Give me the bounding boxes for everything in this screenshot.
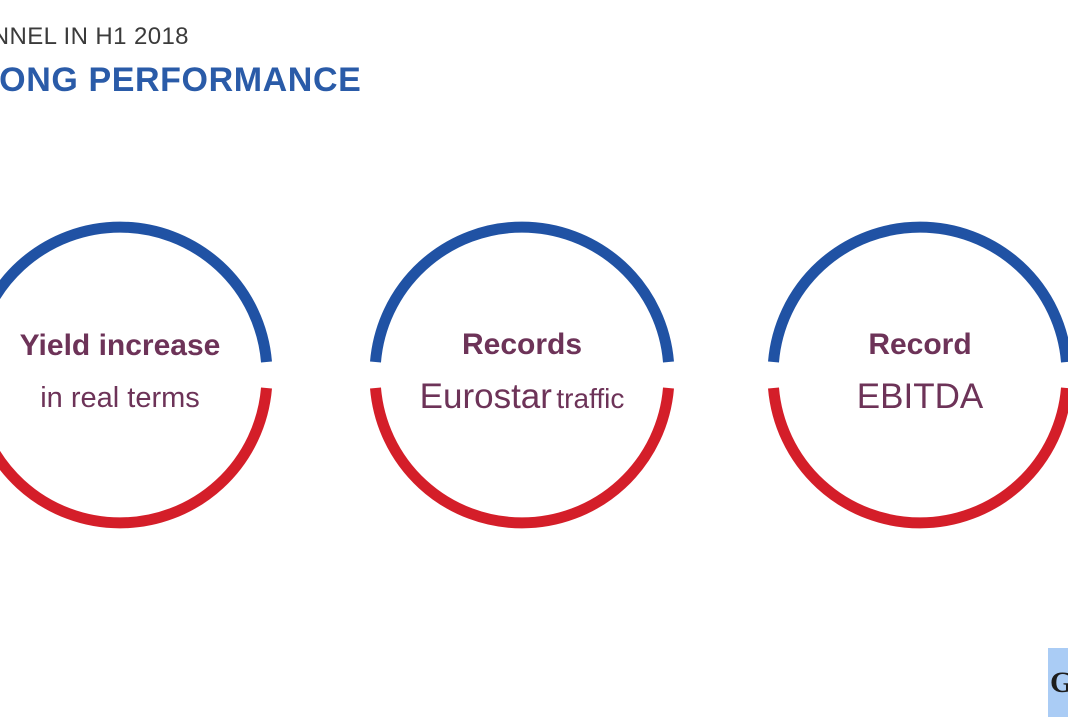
split-ring-icon <box>0 215 280 535</box>
ring-bottom-arc-red <box>0 388 267 523</box>
split-ring-icon <box>760 215 1068 535</box>
metric-circle-yield-increase: Yield increase in real terms <box>0 215 280 535</box>
ring-bottom-arc-red <box>376 388 669 523</box>
ring-top-arc-blue <box>0 227 267 362</box>
ring-top-arc-blue <box>774 227 1067 362</box>
slide-headline: RONG PERFORMANCE <box>0 58 674 102</box>
corner-logo-panel: G <box>1048 648 1068 717</box>
title-block: UNNEL IN H1 2018 RONG PERFORMANCE <box>0 22 674 102</box>
corner-logo-glyph: G <box>1050 668 1068 698</box>
ring-bottom-arc-red <box>774 388 1067 523</box>
metric-circle-eurostar-traffic: Records Eurostar traffic <box>362 215 682 535</box>
split-ring-icon <box>362 215 682 535</box>
metric-circle-record-ebitda: Record EBITDA <box>760 215 1068 535</box>
slide-canvas: UNNEL IN H1 2018 RONG PERFORMANCE Yield … <box>0 0 1068 717</box>
ring-top-arc-blue <box>376 227 669 362</box>
slide-eyebrow: UNNEL IN H1 2018 <box>0 22 674 52</box>
